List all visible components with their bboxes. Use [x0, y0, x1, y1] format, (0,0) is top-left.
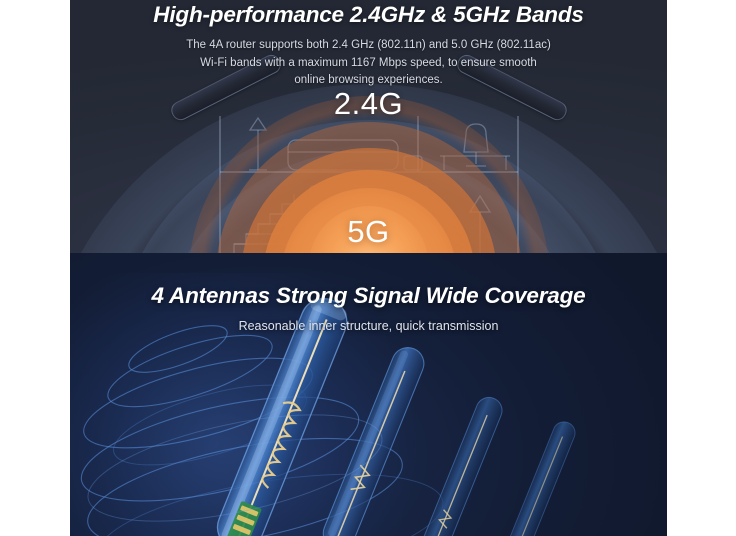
antennas-heading: 4 Antennas Strong Signal Wide Coverage — [70, 283, 667, 309]
band-label-24g: 2.4G — [70, 86, 667, 122]
antennas-header-block: 4 Antennas Strong Signal Wide Coverage R… — [70, 283, 667, 333]
content-panel: 2.4G 5G High-performance 2.4GHz & 5GHz B… — [70, 0, 667, 536]
product-infographic-page: 2.4G 5G High-performance 2.4GHz & 5GHz B… — [0, 0, 736, 536]
bands-body-line-1: The 4A router supports both 2.4 GHz (802… — [169, 37, 569, 55]
section-high-performance-bands: 2.4G 5G High-performance 2.4GHz & 5GHz B… — [70, 0, 667, 253]
antennas-subheading: Reasonable inner structure, quick transm… — [70, 319, 667, 333]
bands-body-copy: The 4A router supports both 2.4 GHz (802… — [169, 37, 569, 90]
section-four-antennas: 4 Antennas Strong Signal Wide Coverage R… — [70, 253, 667, 536]
bands-body-line-3: online browsing experiences. — [169, 72, 569, 90]
band-label-5g: 5G — [70, 214, 667, 250]
bands-header-block: High-performance 2.4GHz & 5GHz Bands The… — [70, 0, 667, 90]
bands-heading: High-performance 2.4GHz & 5GHz Bands — [70, 0, 667, 28]
bands-body-line-2: Wi-Fi bands with a maximum 1167 Mbps spe… — [169, 55, 569, 73]
